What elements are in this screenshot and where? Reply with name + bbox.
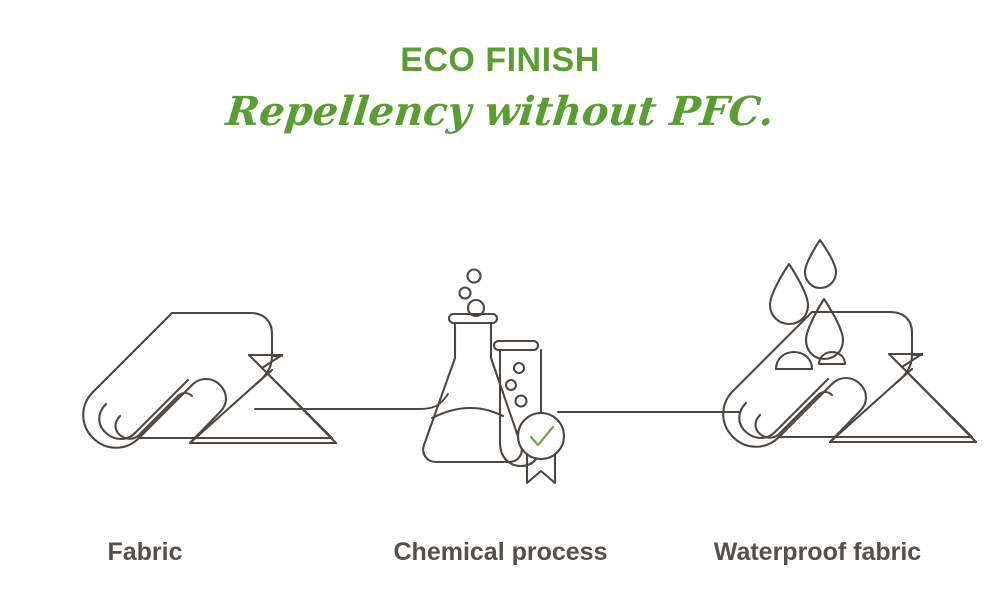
caption-waterproof-fabric: Waterproof fabric <box>700 540 935 565</box>
caption-fabric: Fabric <box>45 540 245 565</box>
caption-chemical-process: Chemical process <box>383 540 618 565</box>
eco-finish-infographic: ECO FINISH Repellency without PFC. <box>0 0 1000 615</box>
folded-fabric-with-droplets-icon <box>723 240 976 447</box>
process-illustration <box>0 0 1000 615</box>
check-badge-icon <box>518 413 564 483</box>
tube-bubbles <box>506 363 527 407</box>
flask-and-test-tube-icon <box>423 270 564 484</box>
folded-fabric-icon <box>83 313 336 448</box>
flask-bubbles <box>460 270 485 317</box>
beaded-droplets <box>776 352 845 369</box>
water-droplets <box>770 240 843 359</box>
connector-line-left <box>255 394 448 409</box>
